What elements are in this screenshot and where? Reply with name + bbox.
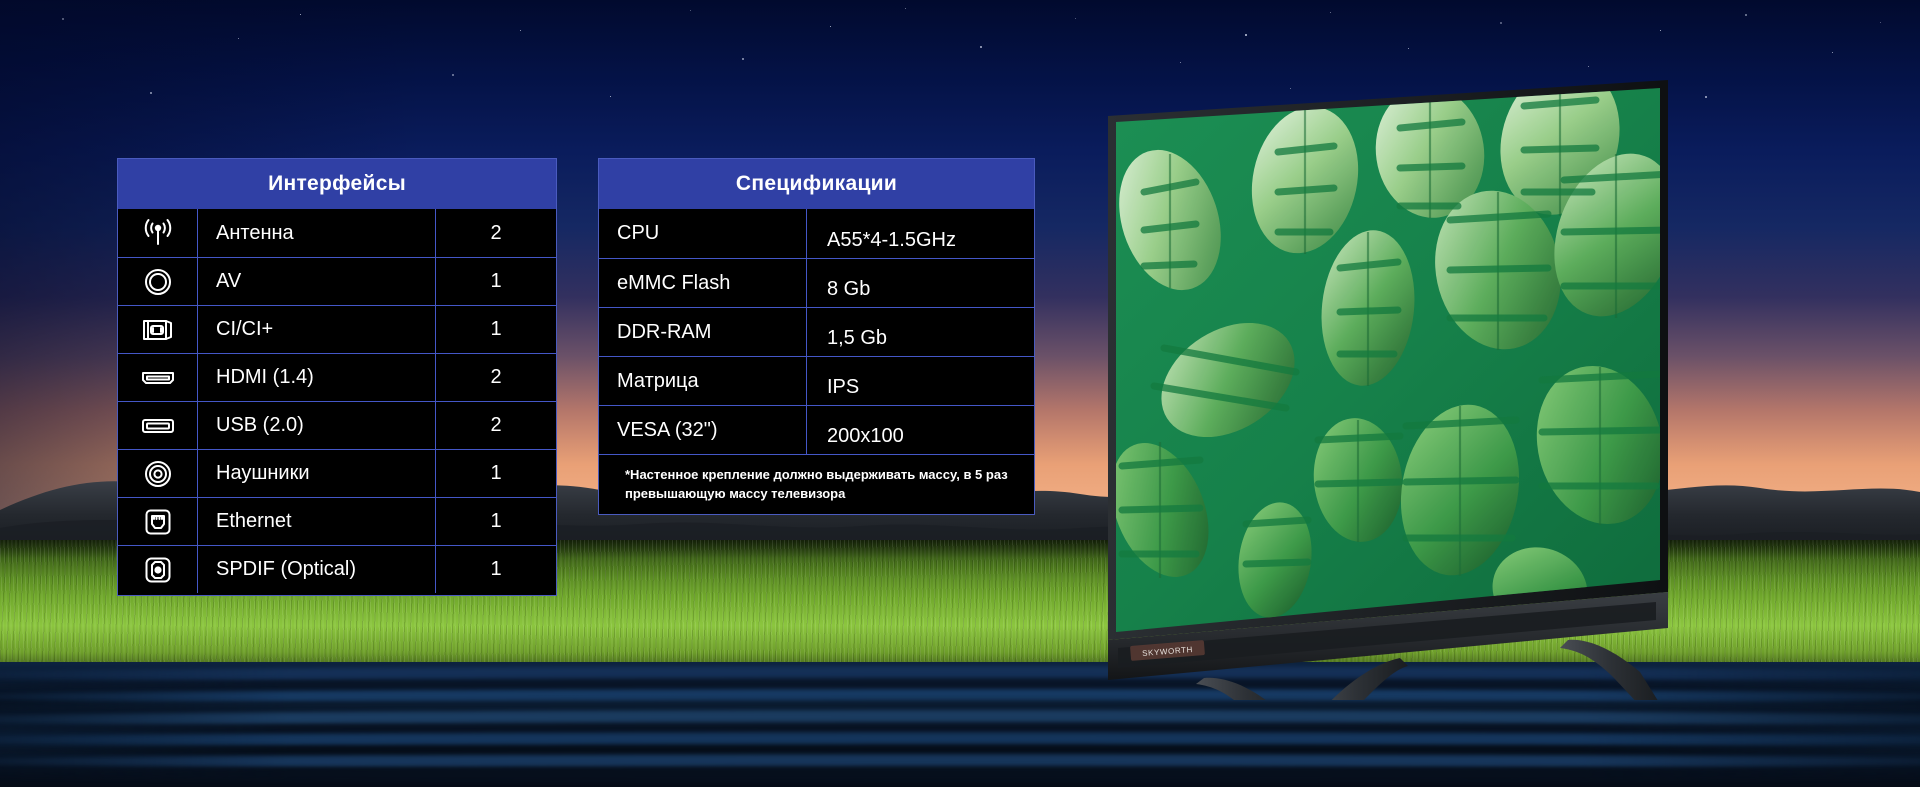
specification-key: eMMC Flash (599, 259, 807, 307)
av-rca-icon (118, 258, 198, 305)
interface-row: CI/CI+1 (118, 305, 556, 353)
interface-name: HDMI (1.4) (198, 354, 436, 401)
specification-key: CPU (599, 209, 807, 258)
ci-slot-icon (118, 306, 198, 353)
star (742, 58, 744, 60)
specification-value: IPS (807, 357, 1034, 405)
interface-name: USB (2.0) (198, 402, 436, 449)
specification-row: CPUA55*4-1.5GHz (599, 209, 1034, 258)
specification-row: DDR-RAM1,5 Gb (599, 307, 1034, 356)
star (980, 46, 982, 48)
specification-row: eMMC Flash8 Gb (599, 258, 1034, 307)
specification-key: Матрица (599, 357, 807, 405)
vesa-footnote: *Настенное крепление должно выдерживать … (599, 454, 1034, 514)
interface-quantity: 1 (436, 258, 556, 305)
star (62, 18, 64, 20)
interface-quantity: 1 (436, 450, 556, 497)
interface-row: Наушники1 (118, 449, 556, 497)
star (690, 10, 691, 11)
interface-row: HDMI (1.4)2 (118, 353, 556, 401)
interfaces-table-title: Интерфейсы (118, 159, 556, 209)
interface-row: Ethernet1 (118, 497, 556, 545)
star (1330, 12, 1331, 13)
specification-row: МатрицаIPS (599, 356, 1034, 405)
star (610, 96, 611, 97)
interface-name: CI/CI+ (198, 306, 436, 353)
star (520, 30, 521, 31)
interface-name: Антенна (198, 209, 436, 257)
star (1745, 14, 1747, 16)
star (1660, 30, 1661, 31)
specification-key: VESA (32") (599, 406, 807, 454)
star (1832, 52, 1833, 53)
star (238, 38, 239, 39)
interface-name: Ethernet (198, 498, 436, 545)
specifications-table-title: Спецификации (599, 159, 1034, 209)
hdmi-icon (118, 354, 198, 401)
star (300, 14, 301, 15)
interface-row: Антенна2 (118, 209, 556, 257)
interface-row: AV1 (118, 257, 556, 305)
interface-row: USB (2.0)2 (118, 401, 556, 449)
star (1500, 22, 1502, 24)
water-wave (0, 766, 1920, 782)
star (1245, 34, 1247, 36)
interface-name: SPDIF (Optical) (198, 546, 436, 593)
banner-stage: SKYWORTH Интерфейсы Антенна2 AV1 CI/CI+1… (0, 0, 1920, 787)
specification-row: VESA (32")200x100 (599, 405, 1034, 454)
television-product-image: SKYWORTH (1100, 80, 1720, 700)
interface-row: SPDIF (Optical)1 (118, 545, 556, 593)
usb-icon (118, 402, 198, 449)
antenna-icon (118, 209, 198, 257)
star (150, 92, 152, 94)
interfaces-rows: Антенна2 AV1 CI/CI+1 HDMI (1.4)2 USB (2.… (118, 209, 556, 593)
star (452, 74, 454, 76)
specification-value: A55*4-1.5GHz (807, 209, 1034, 258)
interface-quantity: 2 (436, 354, 556, 401)
star (1588, 66, 1589, 67)
ethernet-icon (118, 498, 198, 545)
interface-quantity: 2 (436, 209, 556, 257)
star (905, 8, 906, 9)
specifications-rows: CPUA55*4-1.5GHzeMMC Flash8 GbDDR-RAM1,5 … (599, 209, 1034, 454)
interface-name: Наушники (198, 450, 436, 497)
specifications-table: Спецификации CPUA55*4-1.5GHzeMMC Flash8 … (598, 158, 1035, 515)
star (1408, 48, 1409, 49)
interfaces-table: Интерфейсы Антенна2 AV1 CI/CI+1 HDMI (1.… (117, 158, 557, 596)
star (1180, 62, 1181, 63)
interface-quantity: 1 (436, 546, 556, 593)
star (1075, 18, 1076, 19)
specification-value: 200x100 (807, 406, 1034, 454)
star (830, 26, 831, 27)
interface-name: AV (198, 258, 436, 305)
interface-quantity: 2 (436, 402, 556, 449)
interface-quantity: 1 (436, 306, 556, 353)
specification-value: 8 Gb (807, 259, 1034, 307)
star (1880, 22, 1881, 23)
spdif-icon (118, 546, 198, 593)
headphone-jack-icon (118, 450, 198, 497)
interface-quantity: 1 (436, 498, 556, 545)
specification-value: 1,5 Gb (807, 308, 1034, 356)
specification-key: DDR-RAM (599, 308, 807, 356)
